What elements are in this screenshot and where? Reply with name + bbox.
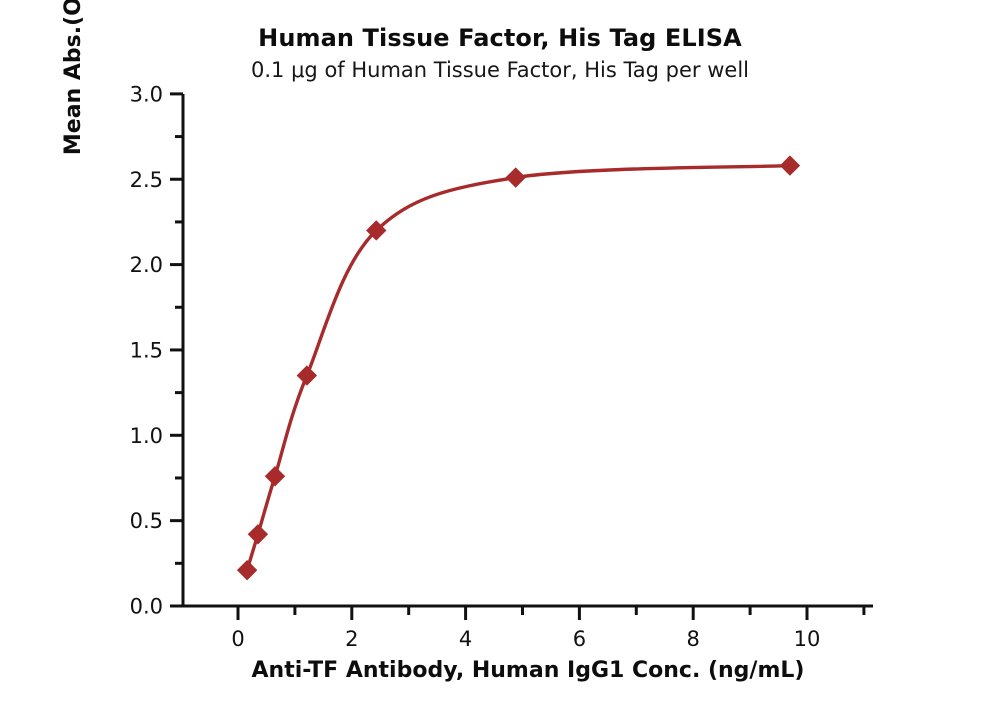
y-tick-label: 3.0	[130, 82, 163, 106]
y-tick-label: 1.5	[130, 338, 163, 362]
data-point-marker	[248, 525, 267, 544]
y-tick-label: 1.0	[130, 424, 163, 448]
x-axis: 0246810	[183, 606, 873, 651]
data-point-marker	[238, 561, 257, 580]
plot-area: 0.00.51.01.52.02.53.0 0246810	[0, 0, 1000, 714]
y-tick-label: 2.0	[130, 253, 163, 277]
data-point-marker	[297, 366, 316, 385]
y-tick-label: 0.5	[130, 509, 163, 533]
data-point-marker	[506, 168, 525, 187]
x-tick-label: 8	[687, 627, 700, 651]
x-tick-label: 0	[231, 627, 244, 651]
x-tick-label: 6	[573, 627, 586, 651]
y-tick-label: 2.5	[130, 168, 163, 192]
series-line	[247, 166, 790, 571]
x-tick-label: 2	[345, 627, 358, 651]
data-series	[238, 156, 800, 580]
data-point-marker	[265, 467, 284, 486]
y-axis: 0.00.51.01.52.02.53.0	[130, 82, 183, 618]
x-axis-label: Anti-TF Antibody, Human IgG1 Conc. (ng/m…	[183, 658, 873, 683]
x-tick-label: 10	[794, 627, 821, 651]
y-axis-label: Mean Abs.(OD450)	[52, 0, 96, 219]
data-point-marker	[780, 156, 799, 175]
x-tick-label: 4	[459, 627, 472, 651]
y-tick-label: 0.0	[130, 595, 163, 619]
chart-figure: Human Tissue Factor, His Tag ELISA 0.1 μ…	[0, 0, 1000, 714]
